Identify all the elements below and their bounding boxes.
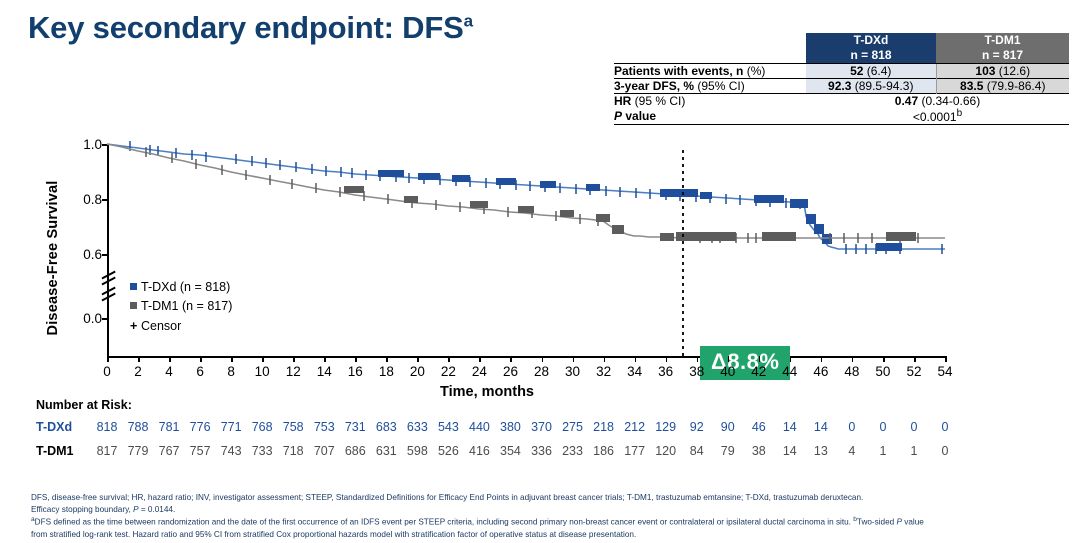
x-tick-label: 26 [495, 364, 525, 379]
cell-value-bold: 0.47 [895, 94, 918, 108]
row-label-bold: Patients with events, n [614, 64, 743, 78]
x-tick-label: 34 [620, 364, 650, 379]
risk-value: 733 [246, 444, 278, 458]
row-label-bold: HR [614, 94, 631, 108]
row-label-norm: (95 % CI) [631, 94, 685, 108]
row-label-3-year-dfs: 3-year DFS, % (95% CI) [614, 79, 806, 94]
table-header-blank [614, 33, 806, 64]
x-tick-mark [790, 356, 792, 362]
x-tick-mark [728, 356, 730, 362]
risk-value: 0 [929, 420, 961, 434]
footnote-line-1: DFS, disease-free survival; HR, hazard r… [31, 492, 1061, 504]
risk-value: 817 [91, 444, 123, 458]
risk-value: 46 [743, 420, 775, 434]
x-tick-mark [852, 356, 854, 362]
risk-value: 177 [619, 444, 651, 458]
number-at-risk-row-tdxd: T-DXd81878878177677176875875373168363354… [36, 420, 98, 434]
risk-value: 336 [526, 444, 558, 458]
chart-legend: T-DXd (n = 818) T-DM1 (n = 817) +Censor [130, 278, 232, 336]
risk-value: 4 [836, 444, 868, 458]
x-tick-label: 24 [464, 364, 494, 379]
table-header-tdm1-name: T-DM1 [936, 33, 1069, 48]
table-header-tdm1-n: n = 817 [936, 48, 1069, 63]
x-tick-label: 16 [340, 364, 370, 379]
risk-value: 79 [712, 444, 744, 458]
cell-tdm1-3-year-dfs: 83.5 (79.9-86.4) [936, 79, 1069, 94]
row-label-hr: HR (95 % CI) [614, 94, 806, 109]
x-tick-label: 38 [682, 364, 712, 379]
risk-value: 757 [184, 444, 216, 458]
risk-value: 758 [277, 420, 309, 434]
table-row-pvalue: P value <0.0001b [614, 108, 1069, 125]
footnote-line-3-text3: value [902, 518, 924, 527]
risk-value: 0 [929, 444, 961, 458]
x-tick-mark [945, 356, 947, 362]
risk-value: 0 [898, 420, 930, 434]
risk-value: 90 [712, 420, 744, 434]
risk-value: 218 [588, 420, 620, 434]
x-tick-mark [448, 356, 450, 362]
risk-value: 543 [432, 420, 464, 434]
cell-value-norm: (79.9-86.4) [983, 79, 1045, 93]
km-plot: Disease-Free Survival 1.0 0.8 0.6 0.0 [0, 130, 1080, 400]
x-tick-mark [759, 356, 761, 362]
risk-value: 84 [681, 444, 713, 458]
x-tick-mark [355, 356, 357, 362]
x-tick-mark [169, 356, 171, 362]
risk-value: 598 [401, 444, 433, 458]
cell-value-norm: (89.5-94.3) [851, 79, 913, 93]
risk-value: 753 [308, 420, 340, 434]
table-header-row: T-DXd n = 818 T-DM1 n = 817 [614, 33, 1069, 64]
x-tick-label: 44 [775, 364, 805, 379]
x-tick-label: 12 [278, 364, 308, 379]
x-tick-label: 28 [527, 364, 557, 379]
legend-item-tdxd: T-DXd (n = 818) [130, 278, 232, 297]
page-title: Key secondary endpoint: DFSa [28, 10, 473, 46]
table-row: Patients with events, n (%) 52 (6.4) 103… [614, 64, 1069, 79]
x-tick-label: 10 [247, 364, 277, 379]
risk-row-name: T-DM1 [36, 444, 98, 458]
risk-value: 718 [277, 444, 309, 458]
cell-value: <0.0001 [913, 110, 957, 124]
table-header-tdm1: T-DM1 n = 817 [936, 33, 1069, 64]
x-tick-mark [542, 356, 544, 362]
x-tick-label: 36 [651, 364, 681, 379]
footnote-line-2-suffix: = 0.0144. [139, 505, 176, 514]
page-title-superscript: a [464, 12, 473, 31]
row-label-italic: P [614, 109, 622, 123]
risk-value: 13 [805, 444, 837, 458]
cell-value-superscript: b [957, 108, 963, 119]
risk-value: 707 [308, 444, 340, 458]
risk-value: 526 [432, 444, 464, 458]
x-tick-label: 22 [433, 364, 463, 379]
x-tick-label: 32 [589, 364, 619, 379]
censor-clusters-tdm1 [344, 186, 916, 241]
footnote-line-2: Efficacy stopping boundary, P = 0.0144. [31, 504, 1061, 516]
legend-label-tdm1: T-DM1 (n = 817) [141, 299, 232, 313]
risk-value: 768 [246, 420, 278, 434]
row-label-p-value: P value [614, 108, 806, 125]
x-tick-label: 0 [92, 364, 122, 379]
table-header-tdxd-name: T-DXd [806, 33, 936, 48]
legend-label-tdxd: T-DXd (n = 818) [141, 280, 230, 294]
risk-value: 781 [153, 420, 185, 434]
x-tick-mark [231, 356, 233, 362]
row-label-norm: (95% CI) [694, 79, 745, 93]
x-tick-mark [821, 356, 823, 362]
risk-value: 743 [215, 444, 247, 458]
legend-square-icon [130, 302, 137, 309]
x-tick-mark [697, 356, 699, 362]
number-at-risk-row-tdm1: T-DM181777976775774373371870768663159852… [36, 444, 98, 458]
table-header-tdxd: T-DXd n = 818 [806, 33, 936, 64]
x-tick-mark [573, 356, 575, 362]
risk-value: 14 [774, 420, 806, 434]
x-tick-label: 4 [154, 364, 184, 379]
risk-value: 186 [588, 444, 620, 458]
plus-icon: + [130, 317, 141, 336]
footnote-line-3-text: DFS defined as the time between randomiz… [35, 518, 854, 527]
x-tick-mark [666, 356, 668, 362]
row-label-patients-with-events: Patients with events, n (%) [614, 64, 806, 79]
row-label-norm: (%) [743, 64, 765, 78]
risk-value: 731 [339, 420, 371, 434]
footnote-line-2-prefix: Efficacy stopping boundary, [31, 505, 133, 514]
x-tick-label: 48 [837, 364, 867, 379]
x-tick-label: 20 [402, 364, 432, 379]
x-tick-label: 6 [185, 364, 215, 379]
x-tick-mark [293, 356, 295, 362]
x-tick-label: 2 [123, 364, 153, 379]
curve-tdm1 [107, 144, 945, 238]
cell-value-bold: 103 [975, 64, 995, 78]
cell-tdm1-patients-with-events: 103 (12.6) [936, 64, 1069, 79]
x-tick-label: 46 [806, 364, 836, 379]
x-tick-label: 8 [216, 364, 246, 379]
cell-p-value: <0.0001b [806, 108, 1069, 125]
x-tick-mark [200, 356, 202, 362]
x-tick-label: 14 [309, 364, 339, 379]
risk-value: 683 [370, 420, 402, 434]
x-tick-label: 30 [558, 364, 588, 379]
risk-value: 275 [557, 420, 589, 434]
table-row: 3-year DFS, % (95% CI) 92.3 (89.5-94.3) … [614, 79, 1069, 94]
x-tick-mark [479, 356, 481, 362]
footnotes: DFS, disease-free survival; HR, hazard r… [31, 492, 1061, 540]
x-tick-label: 42 [744, 364, 774, 379]
x-tick-mark [107, 356, 109, 362]
x-tick-label: 50 [868, 364, 898, 379]
x-tick-mark [883, 356, 885, 362]
x-tick-mark [914, 356, 916, 362]
page-title-text: Key secondary endpoint: DFS [28, 10, 464, 45]
cell-tdxd-3-year-dfs: 92.3 (89.5-94.3) [806, 79, 936, 94]
cell-value-norm: (12.6) [995, 64, 1030, 78]
x-tick-mark [417, 356, 419, 362]
cell-hr-value: 0.47 (0.34-0.66) [806, 94, 1069, 109]
footnote-line-4: from stratified log-rank test. Hazard ra… [31, 529, 1061, 541]
x-tick-mark [510, 356, 512, 362]
risk-value: 779 [122, 444, 154, 458]
risk-value: 633 [401, 420, 433, 434]
table-header-tdxd-n: n = 818 [806, 48, 936, 63]
cell-value-norm: (0.34-0.66) [918, 94, 980, 108]
cell-value-bold: 92.3 [828, 79, 851, 93]
risk-value: 776 [184, 420, 216, 434]
risk-value: 440 [463, 420, 495, 434]
legend-square-icon [130, 283, 137, 290]
risk-value: 818 [91, 420, 123, 434]
risk-value: 0 [867, 420, 899, 434]
x-tick-mark [324, 356, 326, 362]
x-tick-mark [604, 356, 606, 362]
x-tick-label: 40 [713, 364, 743, 379]
cell-value-bold: 52 [850, 64, 863, 78]
x-tick-label: 52 [899, 364, 929, 379]
risk-value: 14 [805, 420, 837, 434]
results-table: T-DXd n = 818 T-DM1 n = 817 Patients wit… [614, 33, 1069, 125]
risk-value: 686 [339, 444, 371, 458]
risk-value: 370 [526, 420, 558, 434]
cell-value-norm: (6.4) [863, 64, 891, 78]
risk-row-name: T-DXd [36, 420, 98, 434]
censor-ticks-tdm1 [146, 147, 918, 243]
x-axis-label: Time, months [440, 384, 534, 400]
cell-value-bold: 83.5 [960, 79, 983, 93]
risk-value: 767 [153, 444, 185, 458]
risk-value: 129 [650, 420, 682, 434]
risk-value: 14 [774, 444, 806, 458]
footnote-line-3: aDFS defined as the time between randomi… [31, 515, 1061, 528]
table-row-hr: HR (95 % CI) 0.47 (0.34-0.66) [614, 94, 1069, 109]
risk-value: 1 [898, 444, 930, 458]
risk-value: 233 [557, 444, 589, 458]
risk-value: 120 [650, 444, 682, 458]
row-label-bold: 3-year DFS, % [614, 79, 694, 93]
x-tick-mark [386, 356, 388, 362]
row-label-norm: value [622, 109, 656, 123]
risk-value: 38 [743, 444, 775, 458]
risk-value: 771 [215, 420, 247, 434]
footnote-line-3-text2: Two-sided [857, 518, 897, 527]
x-tick-label: 54 [930, 364, 960, 379]
km-curves [0, 130, 1080, 400]
x-tick-mark [262, 356, 264, 362]
risk-value: 631 [370, 444, 402, 458]
risk-value: 92 [681, 420, 713, 434]
risk-value: 0 [836, 420, 868, 434]
x-tick-mark [138, 356, 140, 362]
risk-value: 416 [463, 444, 495, 458]
risk-value: 1 [867, 444, 899, 458]
legend-label-censor: Censor [141, 319, 181, 333]
cell-tdxd-patients-with-events: 52 (6.4) [806, 64, 936, 79]
risk-value: 380 [494, 420, 526, 434]
number-at-risk-title: Number at Risk: [36, 398, 132, 412]
x-tick-mark [635, 356, 637, 362]
x-tick-label: 18 [371, 364, 401, 379]
risk-value: 212 [619, 420, 651, 434]
risk-value: 788 [122, 420, 154, 434]
risk-value: 354 [494, 444, 526, 458]
legend-item-censor: +Censor [130, 317, 232, 336]
legend-item-tdm1: T-DM1 (n = 817) [130, 297, 232, 316]
